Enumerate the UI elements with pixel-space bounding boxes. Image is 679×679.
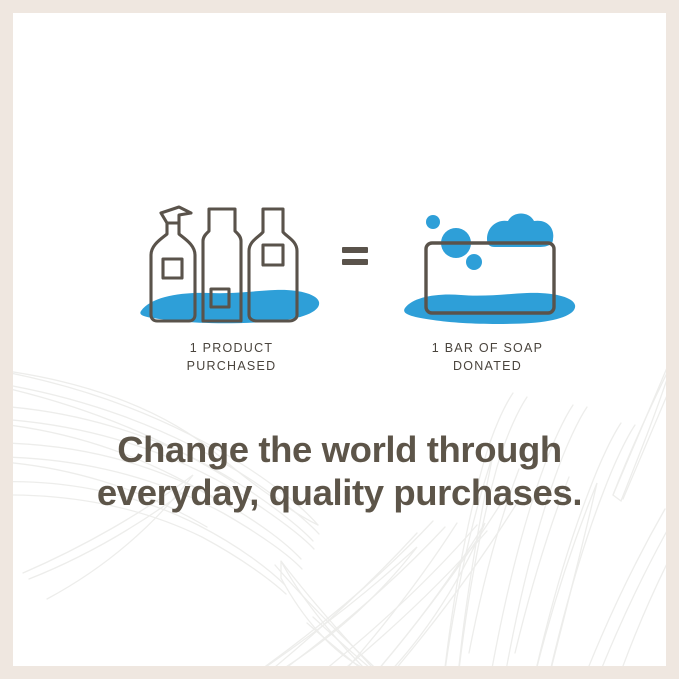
caption-product-purchased: 1 PRODUCT PURCHASED <box>115 339 348 375</box>
infographic-card: 1 PRODUCT PURCHASED 1 BAR OF SOAP DONATE… <box>13 13 666 666</box>
equals-icon <box>338 241 378 271</box>
equation-icon-row: 1 PRODUCT PURCHASED 1 BAR OF SOAP DONATE… <box>13 193 666 328</box>
caption-soap-donated: 1 BAR OF SOAP DONATED <box>375 339 600 375</box>
soap-bar-icon <box>403 203 578 328</box>
product-bottles-icon <box>135 193 325 328</box>
product-infographic-canvas: 1 PRODUCT PURCHASED 1 BAR OF SOAP DONATE… <box>0 0 679 679</box>
headline-text: Change the world through everyday, quali… <box>53 428 626 514</box>
